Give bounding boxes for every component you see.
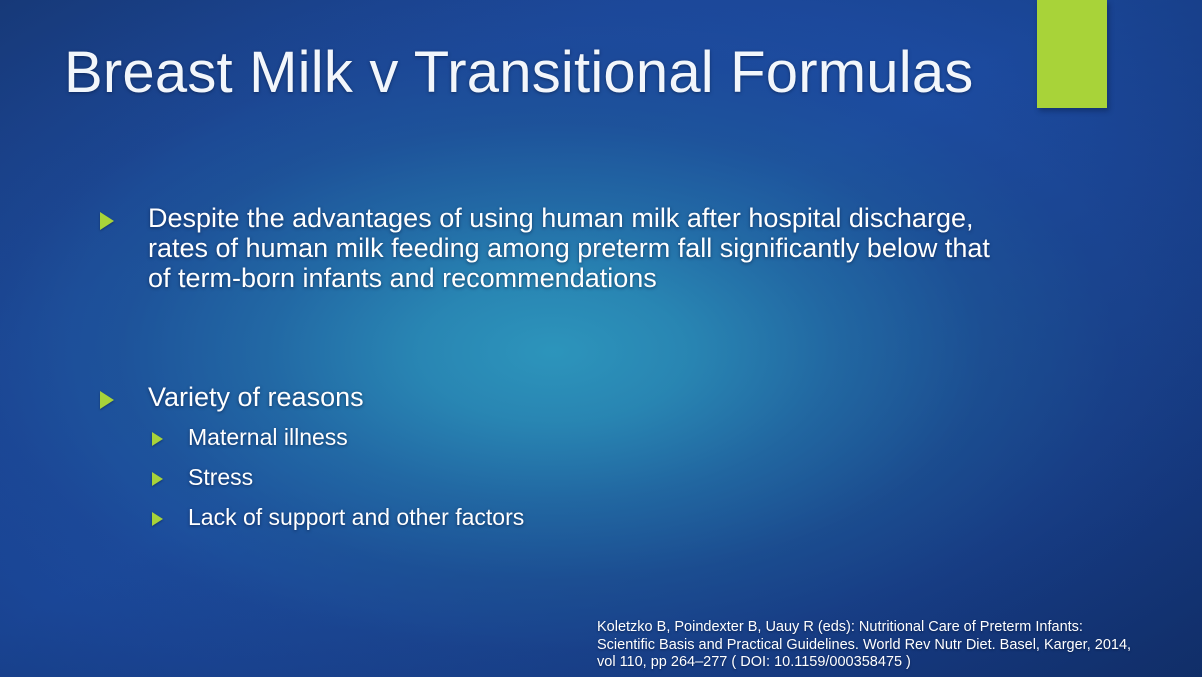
slide-canvas: Breast Milk v Transitional Formulas Desp… <box>0 0 1202 677</box>
bullet-item-stress: Stress <box>152 464 253 491</box>
bullet-item-variety: Variety of reasons <box>100 382 364 413</box>
bullet-text: Stress <box>188 464 253 491</box>
bullet-text: Despite the advantages of using human mi… <box>148 203 1000 293</box>
bullet-text: Lack of support and other factors <box>188 504 524 531</box>
citation-line-1: Koletzko B, Poindexter B, Uauy R (eds): … <box>597 619 1197 637</box>
bullet-item-maternal-illness: Maternal illness <box>152 424 348 451</box>
triangle-right-icon <box>100 212 114 230</box>
citation-block: Koletzko B, Poindexter B, Uauy R (eds): … <box>597 619 1197 672</box>
bullet-item-lack-of-support: Lack of support and other factors <box>152 504 524 531</box>
slide-body: Despite the advantages of using human mi… <box>0 0 1202 677</box>
triangle-right-icon <box>152 472 163 486</box>
bullet-text: Variety of reasons <box>148 382 364 413</box>
triangle-right-icon <box>152 512 163 526</box>
bullet-text: Maternal illness <box>188 424 348 451</box>
bullet-item-despite: Despite the advantages of using human mi… <box>100 203 1000 293</box>
citation-line-2: Scientific Basis and Practical Guideline… <box>597 637 1197 655</box>
triangle-right-icon <box>100 391 114 409</box>
citation-line-3: vol 110, pp 264–277 ( DOI: 10.1159/00035… <box>597 654 1197 672</box>
triangle-right-icon <box>152 432 163 446</box>
